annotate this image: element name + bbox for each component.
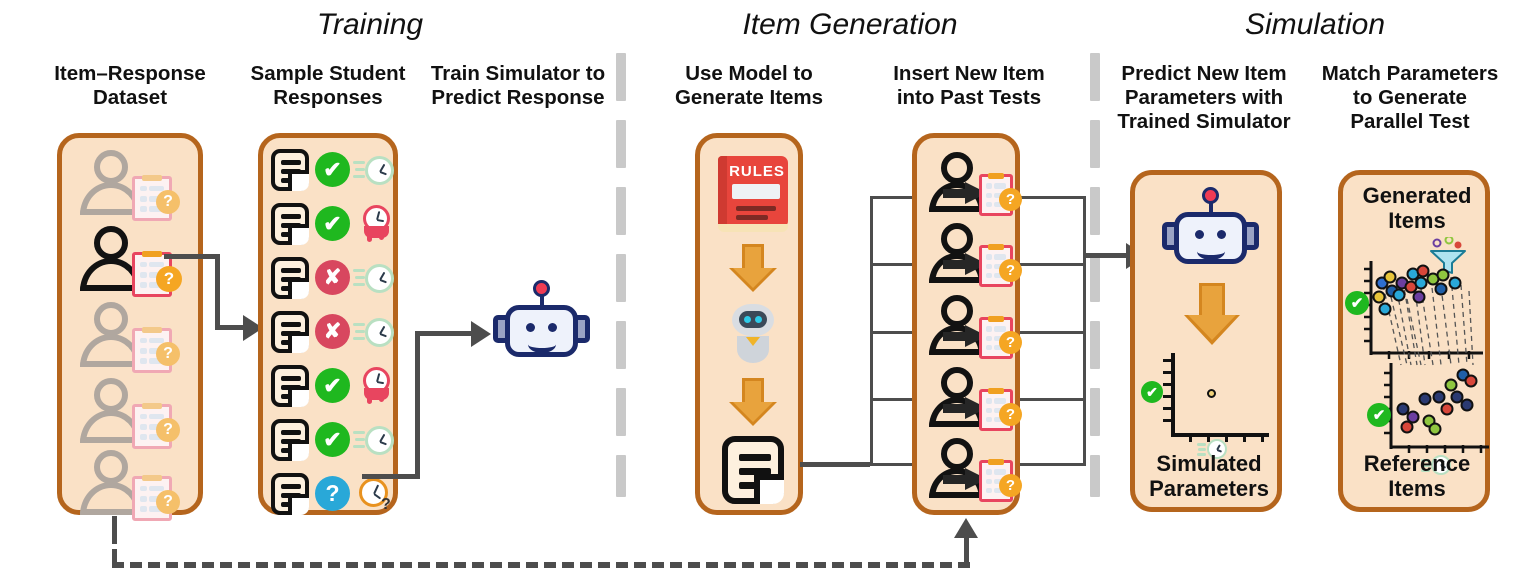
simulated-parameters-label: Simulated Parameters [1137,451,1281,501]
down-arrow-icon-2 [729,378,777,426]
person-head-icon [94,226,128,260]
insert-arrow-icon [943,260,967,269]
test-student-icon-3: ? [929,295,1025,357]
connector-responses-to-simulator-h1 [362,474,420,479]
person-head-icon [941,223,973,255]
stage-divider-1-seg5 [616,321,626,369]
stage-divider-2-seg1 [1090,53,1100,101]
clipboard-clip-icon [142,175,161,181]
person-head-icon [94,378,128,412]
caption-item-response-dataset: Item–Response Dataset [20,62,240,110]
clipboard-clip-icon [988,388,1004,394]
plot-point [1207,389,1216,398]
book-spine-icon [718,156,727,228]
clipboard-clip-icon [142,475,161,481]
response-row-6: ✔ [269,416,399,462]
clock-question-glyph: ? [381,496,391,514]
clipboard-line [140,486,147,491]
clipboard-line [140,338,147,343]
new-item-document-icon [722,436,784,504]
simulator-robot-icon [492,280,592,360]
response-row-3: ✘ [269,254,399,300]
stage-divider-1-seg2 [616,120,626,168]
stage-divider-1-seg6 [616,388,626,436]
clipboard-line [140,196,147,201]
robot-antenna-bulb-icon [1202,187,1219,204]
clipboard-line [140,348,147,353]
clipboard-clip-icon [142,403,161,409]
down-arrow-icon-1 [729,244,777,292]
panel-match-parameters: Generated Items [1338,170,1490,512]
status-correct-icon: ✔ [315,206,350,241]
doc-fold-icon [288,494,309,515]
stage-title-item-generation: Item Generation [640,8,1060,42]
question-badge-icon: ? [156,190,180,214]
status-correct-icon: ✔ [315,422,350,457]
clipboard-line [140,358,147,363]
clipboard-clip-icon [988,459,1004,465]
status-correct-icon: ✔ [315,152,350,187]
caption-insert-new-item: Insert New Item into Past Tests [872,62,1066,110]
clock-fast-icon [353,423,397,457]
response-row-1: ✔ [269,146,399,192]
item-document-icon [271,257,309,299]
feedback-loop-dashed-line [112,562,970,568]
response-row-5: ✔ [269,362,399,408]
robot-head-icon [505,305,578,357]
doc-fold-icon [288,278,309,299]
trained-simulator-robot-icon [1161,187,1261,267]
stage-divider-2-seg3 [1090,187,1100,235]
item-document-icon [271,149,309,191]
connector-responses-to-simulator-v [415,331,420,479]
book-base-icon [718,224,788,232]
student-icon-3: ? [80,302,190,368]
connector-item-to-grid [800,462,870,467]
clipboard-line [140,496,147,501]
question-badge-icon: ? [156,342,180,366]
insert-arrow-icon [943,332,967,341]
question-badge-icon: ? [156,418,180,442]
person-head-icon [94,302,128,336]
test-student-icon-4: ? [929,367,1025,429]
stage-divider-2-seg6 [1090,388,1100,436]
stage-divider-2-seg2 [1090,120,1100,168]
rules-book-icon: RULES [718,156,788,228]
feedback-loop-left-riser [112,549,117,563]
connector-dataset-to-responses-h1 [164,254,220,259]
person-head-icon [941,438,973,470]
question-badge-icon: ? [999,259,1022,282]
status-unknown-icon: ? [315,476,350,511]
question-badge-icon: ? [999,188,1022,211]
doc-fold-icon [754,474,784,504]
feedback-loop-start-segment [112,516,117,544]
panel-use-model-generate-items: RULES [695,133,803,515]
ai-model-icon [730,304,776,366]
item-document-icon [271,203,309,245]
insert-arrow-icon [943,475,967,484]
panel-item-response-dataset: ? ? [57,133,203,515]
clipboard-line [140,206,147,211]
check-icon-reference-axis: ✔ [1367,403,1391,427]
item-document-icon [271,473,309,515]
item-document-icon [271,365,309,407]
clipboard-line [140,262,147,267]
stage-divider-1-seg1 [616,53,626,101]
response-row-4: ✘ [269,308,399,354]
question-badge-icon: ? [999,474,1022,497]
doc-fold-icon [288,224,309,245]
status-incorrect-icon: ✘ [315,314,350,349]
stage-divider-2-seg4 [1090,254,1100,302]
clipboard-clip-icon [988,316,1004,322]
clipboard-line [140,282,147,287]
clipboard-line [140,272,147,277]
panel-predict-new-item-params: ✔ Simulated Parameters [1130,170,1282,512]
clock-fast-icon [353,261,397,295]
clipboard-clip-icon [988,244,1004,250]
student-icon-4: ? [80,378,190,444]
stage-divider-1-seg4 [616,254,626,302]
question-badge-icon: ? [999,331,1022,354]
clipboard-line [149,262,163,267]
stage-divider-2-seg5 [1090,321,1100,369]
insert-arrow-icon [943,404,967,413]
down-arrow-icon-3 [1184,283,1240,345]
test-student-icon-2: ? [929,223,1025,285]
person-head-icon [941,152,973,184]
clipboard-line [140,434,147,439]
clipboard-line [140,506,147,511]
response-row-2: ✔ [269,200,399,246]
caption-sample-student-responses: Sample Student Responses [222,62,434,110]
caption-match-parameters: Match Parameters to Generate Parallel Te… [1308,62,1512,134]
check-icon-generated-axis: ✔ [1345,291,1369,315]
clock-slow-icon [359,205,395,243]
reference-items-label: Reference Items [1345,451,1489,501]
clipboard-line [140,424,147,429]
person-head-icon [94,450,128,484]
clipboard-clip-icon [142,327,161,333]
clipboard-line [140,186,147,191]
caption-predict-new-item-params: Predict New Item Parameters with Trained… [1098,62,1310,134]
feedback-loop-arrow [954,518,978,538]
check-icon-y-axis: ✔ [1141,381,1163,403]
generated-items-scatter [1355,257,1487,367]
clipboard-line [140,414,147,419]
doc-fold-icon [288,386,309,407]
person-head-icon [941,295,973,327]
panel-sample-student-responses: ✔ ✔ [258,133,398,515]
clipboard-clip-icon [988,173,1004,179]
status-correct-icon: ✔ [315,368,350,403]
robot-antenna-bulb-icon [533,280,550,297]
feedback-loop-right-riser [964,538,969,564]
robot-head-icon [1174,212,1247,264]
test-student-icon-5: ? [929,438,1025,500]
student-icon-1: ? [80,150,190,216]
question-badge-icon: ? [156,490,180,514]
person-head-icon [94,150,128,184]
test-student-icon-1: ? [929,152,1025,214]
panel-insert-new-item: ? ? ? [912,133,1020,515]
clock-fast-icon [353,153,397,187]
stage-title-simulation: Simulation [1120,8,1510,42]
simulated-parameters-plot: ✔ [1153,353,1269,439]
diagram-canvas: Training Item Generation Simulation Item… [0,0,1516,586]
doc-fold-icon [288,440,309,461]
connector-dataset-to-responses-v [215,254,220,330]
clock-fast-icon [353,315,397,349]
student-icon-2-highlighted: ? [80,226,190,292]
caption-train-simulator: Train Simulator to Predict Response [412,62,624,110]
clock-slow-icon [359,367,395,405]
connector-grid-to-simulator-h [1083,253,1130,258]
stage-title-training: Training [150,8,590,42]
student-icon-5: ? [80,450,190,516]
insert-arrow-icon [943,189,967,198]
clock-unknown-icon: ? [357,476,397,514]
item-document-icon [271,311,309,353]
connector-responses-to-simulator-h2 [415,331,475,336]
stage-divider-1-seg3 [616,187,626,235]
doc-fold-icon [288,332,309,353]
status-incorrect-icon: ✘ [315,260,350,295]
person-head-icon [941,367,973,399]
stage-divider-1-seg7 [616,455,626,497]
stage-divider-2-seg7 [1090,455,1100,497]
clipboard-clip-icon [142,251,161,257]
question-badge-icon: ? [156,266,182,292]
item-document-icon [271,419,309,461]
book-title-label: RULES [729,163,785,180]
question-badge-icon: ? [999,403,1022,426]
generated-items-label: Generated Items [1345,183,1489,233]
connector-responses-to-simulator-arrow [471,321,491,347]
caption-use-model-generate-items: Use Model to Generate Items [652,62,846,110]
doc-fold-icon [288,170,309,191]
